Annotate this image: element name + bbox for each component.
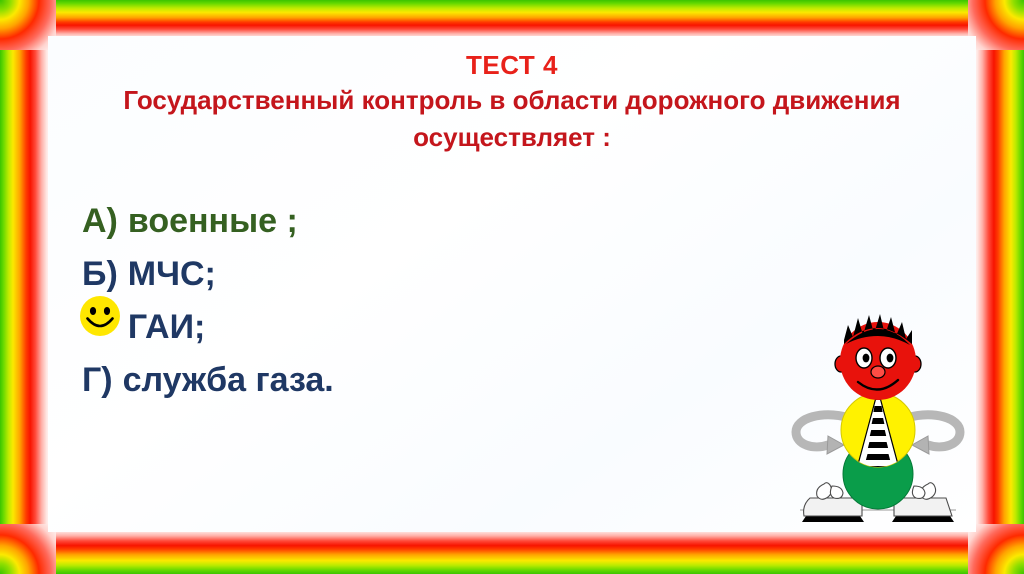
answer-options-list: А) военные ; Б) МЧС; В) ГАИ; — [82, 204, 334, 416]
test-number-heading: ТЕСТ 4 — [84, 50, 940, 82]
answer-option-c[interactable]: В) ГАИ; — [82, 310, 334, 363]
frame-border-left — [0, 0, 52, 574]
frame-corner-top-right — [968, 0, 1024, 50]
answer-option-b-label: МЧС; — [118, 257, 216, 291]
answer-option-d-label: служба газа. — [113, 363, 334, 397]
frame-border-right — [972, 0, 1024, 574]
smiley-face-icon — [78, 294, 122, 338]
frame-border-top — [0, 0, 1024, 40]
answer-option-b-marker: Б) — [82, 257, 118, 291]
answer-option-d-marker: Г) — [82, 363, 113, 397]
answer-option-a-marker: А) — [82, 204, 118, 238]
question-title-block: ТЕСТ 4 Государственный контроль в област… — [84, 50, 940, 156]
answer-option-a-label: военные ; — [118, 204, 298, 238]
slide-content-area: ТЕСТ 4 Государственный контроль в област… — [48, 36, 976, 532]
answer-option-a[interactable]: А) военные ; — [82, 204, 334, 257]
answer-option-c-label: ГАИ; — [118, 310, 205, 344]
frame-corner-bottom-right — [968, 524, 1024, 574]
question-text: Государственный контроль в области дорож… — [84, 82, 940, 156]
traffic-light-character — [788, 306, 968, 536]
answer-option-d[interactable]: Г) служба газа. — [82, 363, 334, 416]
slide-canvas: ТЕСТ 4 Государственный контроль в област… — [0, 0, 1024, 574]
